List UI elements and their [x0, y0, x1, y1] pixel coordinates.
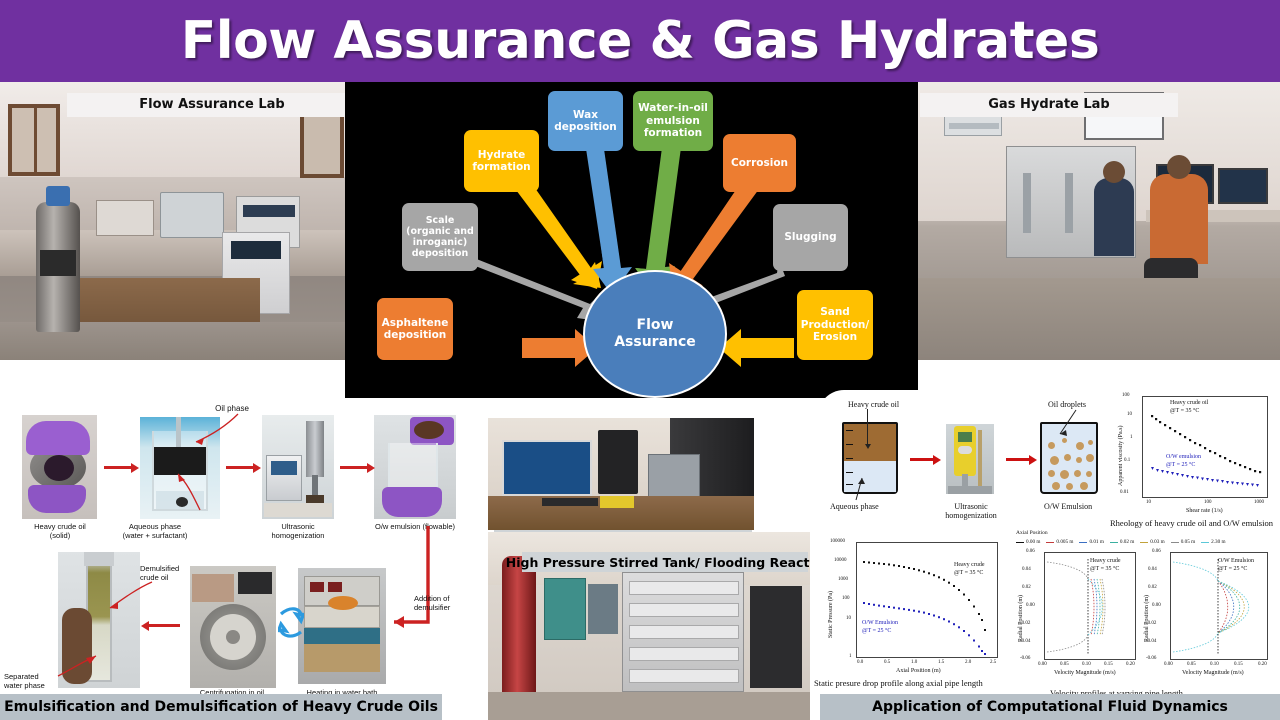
page-title: Flow Assurance & Gas Hydrates: [0, 4, 1280, 78]
legend-swatch-icon: [1201, 542, 1209, 543]
photo-ultrasonic-homogenizer: [946, 424, 994, 494]
diagram-box-slugging[interactable]: Slugging: [773, 204, 848, 271]
static-pressure-annotation-heavy-crude: Heavy crude @T = 35 °C: [954, 562, 984, 577]
velocity-ow-xtick: 0.00: [1164, 662, 1173, 667]
diagram-box-label: Corrosion: [731, 157, 788, 170]
rheology-panel: Heavy crude oil Aqueous phase Ultrasonic…: [818, 390, 1280, 536]
rheology-xtick: 10: [1146, 500, 1151, 505]
rheology-xlabel: Shear rate (1/s): [1186, 508, 1223, 514]
arrow-step2-to-step3: [226, 466, 254, 469]
lab-equipment: [96, 200, 154, 236]
chart-velocity-ow-emulsion: 0.06 0.04 0.02 0.00 -0.02 -0.04 -0.06 0.…: [1138, 546, 1276, 696]
arrow-to-homogenizer: [910, 458, 934, 461]
rheology-xtick: 1000: [1254, 500, 1264, 505]
diagram-center-flow-assurance[interactable]: Flow Assurance: [583, 270, 727, 398]
diagram-box-label: Scale (organic and inroganic) deposition: [406, 215, 474, 259]
velocity-ow-xtick: 0.15: [1234, 662, 1243, 667]
mouse-pad: [600, 496, 634, 508]
velocity-ow-ytick: -0.06: [1146, 656, 1156, 661]
rig-pipe: [1023, 173, 1031, 233]
diagram-center-label-line2: Assurance: [614, 334, 696, 351]
rack-module: [629, 669, 739, 683]
researcher-figure: [1094, 178, 1134, 256]
chart-velocity-heavy-crude: 0.06 0.04 0.02 0.00 -0.02 -0.04 -0.06 0.…: [1012, 546, 1144, 696]
rheology-ytick: 100: [1122, 393, 1130, 398]
legend-item: 0.00 m: [1016, 539, 1040, 545]
label-aqueous-phase: Aqueous phase: [830, 502, 879, 511]
window-frame: [8, 104, 60, 176]
demulsified-leader: [94, 576, 158, 616]
velocity-ow-ytick: 0.06: [1152, 549, 1161, 554]
aqueous-phase-leader: [152, 458, 214, 516]
velocity-heavy-annotation: Heavy crude @T = 35 °C: [1090, 558, 1120, 573]
gas-cylinder: [502, 556, 536, 706]
rheology-ylabel: Apparent viscosity (Pa.s): [1118, 426, 1124, 487]
computer-monitor: [1218, 168, 1268, 204]
control-cabinet: [750, 586, 802, 688]
legend-swatch-icon: [1079, 542, 1087, 543]
diagram-box-water-in-oil-emulsion-formation[interactable]: Water-in-oil emulsion formation: [633, 91, 713, 151]
cfd-panel: 100000 10000 1000 100 10 1 0.0 0.5 1.0 1…: [810, 528, 1280, 720]
label-heavy-crude-oil: Heavy crude oil: [848, 400, 899, 409]
arrow-step1-to-step2: [104, 466, 132, 469]
legend-item: 0.05 m: [1171, 539, 1195, 545]
beaker-heavy-crude-oil: [842, 422, 898, 494]
lab-floor: [918, 278, 1280, 360]
emulsification-panel: Oil phase Heavy crude oil (solid) Aqueou…: [0, 398, 482, 720]
legend-swatch-icon: [1110, 542, 1118, 543]
static-pressure-xlabel: Axial Position (m): [896, 668, 941, 674]
velocity-heavy-xtick: 0.00: [1038, 662, 1047, 667]
static-pressure-ytick: 1000: [838, 577, 848, 582]
lab-floor: [488, 692, 810, 720]
velocity-heavy-ytick: 0.02: [1022, 585, 1031, 590]
rheology-ytick: 0.01: [1120, 490, 1129, 495]
label-heavy-crude-oil: Heavy crude oil (solid): [16, 522, 104, 540]
label-aqueous-phase: Aqueous phase (water + surfactant): [94, 522, 216, 540]
velocity-ow-xtick: 0.05: [1187, 662, 1196, 667]
keyboard: [542, 498, 598, 506]
separated-water-leader: [56, 652, 108, 682]
legend-swatch-icon: [1016, 542, 1024, 543]
static-pressure-ytick: 10: [846, 616, 851, 621]
static-pressure-caption: Static presure drop profile along axial …: [814, 678, 983, 688]
velocity-ow-xtick: 0.20: [1258, 662, 1267, 667]
photo-water-bath: [298, 568, 386, 684]
label-ultrasonic-homogenization: Ultrasonic homogenization: [944, 502, 998, 520]
chart-rheology: 100 10 1 0.1 0.01 10 100 1000 Shear rate…: [1108, 390, 1280, 536]
static-pressure-xtick: 2.5: [990, 660, 996, 665]
legend-label: 0.01 m: [1089, 539, 1103, 545]
velocity-ow-xlabel: Velocity Magnitude (m/s): [1182, 670, 1244, 676]
static-pressure-ytick: 100: [842, 596, 850, 601]
tensiometer-photo: [488, 418, 754, 530]
velocity-heavy-xtick: 0.10: [1082, 662, 1091, 667]
velocity-heavy-ytick: 0.06: [1026, 549, 1035, 554]
lab-equipment: [160, 192, 224, 238]
flow-assurance-diagram: Hydrate formation Wax deposition Water-i…: [345, 82, 918, 398]
arrow-step3-to-step4: [340, 466, 368, 469]
legend-swatch-icon: [1046, 542, 1054, 543]
gas-hydrate-lab-photo: [918, 82, 1280, 360]
diagram-box-corrosion[interactable]: Corrosion: [723, 134, 796, 192]
velocity-heavy-ylabel: Radial Position (m): [1018, 595, 1024, 642]
static-pressure-xtick: 2.0: [965, 660, 971, 665]
static-pressure-ytick: 1: [849, 654, 852, 659]
velocity-heavy-xlabel: Velocity Magnitude (m/s): [1054, 670, 1116, 676]
reactor-unit: [544, 578, 586, 640]
static-pressure-series: [857, 543, 999, 659]
legend-item: 2.30 m: [1201, 539, 1225, 545]
chart-static-pressure: 100000 10000 1000 100 10 1 0.0 0.5 1.0 1…: [814, 536, 1014, 696]
velocity-ow-annotation: O/W Emulsion @T = 25 °C: [1218, 558, 1254, 573]
gas-cylinder: [36, 202, 80, 332]
researcher-figure: [1150, 174, 1208, 264]
legend-swatch-icon: [1140, 542, 1148, 543]
diagram-box-asphaltene-deposition[interactable]: Asphaltene deposition: [377, 298, 453, 360]
static-pressure-ytick: 100000: [830, 539, 845, 544]
static-pressure-xtick: 0.5: [884, 660, 890, 665]
velocity-ow-ytick: 0.04: [1148, 567, 1157, 572]
velocity-heavy-xtick: 0.05: [1060, 662, 1069, 667]
static-pressure-xtick: 0.0: [857, 660, 863, 665]
label-ultrasonic-homogenization: Ultrasonic homogenization: [258, 522, 338, 540]
diagram-box-scale-deposition[interactable]: Scale (organic and inroganic) deposition: [402, 203, 478, 271]
oil-phase-leader: [174, 412, 244, 448]
diagram-box-label: Wax deposition: [552, 109, 619, 134]
photo-ultrasonic-homogenizer: [262, 415, 334, 519]
rheology-ytick: 0.1: [1124, 458, 1130, 463]
rack-module: [629, 581, 739, 595]
rheology-annotation-ow-emulsion: O/W emulsion @T = 25 °C: [1166, 454, 1201, 469]
reactor-title-bar: High Pressure Stirred Tank/ Flooding Rea…: [522, 552, 808, 572]
flow-assurance-lab-caption: Flow Assurance Lab: [67, 93, 357, 117]
legend-item: 0.02 m: [1110, 539, 1134, 545]
label-ow-emulsion: O/W Emulsion: [1044, 502, 1092, 511]
rack-module: [629, 647, 739, 661]
static-pressure-plot-frame: [856, 542, 998, 658]
velocity-heavy-ytick: 0.04: [1022, 567, 1031, 572]
label-addition-of-demulsifier: Addition of demulsifier: [414, 594, 480, 612]
oil-droplets-leader: [1054, 408, 1080, 442]
cfd-title-bar: Application of Computational Fluid Dynam…: [820, 694, 1280, 720]
slide-canvas: Flow Assurance & Gas Hydrates Flow Assur…: [0, 0, 1280, 720]
velocity-heavy-xtick: 0.15: [1104, 662, 1113, 667]
computer-tower: [598, 430, 638, 494]
gas-hydrate-lab-caption: Gas Hydrate Lab: [920, 93, 1178, 117]
aqueous-leader: [852, 472, 870, 502]
heavy-crude-leader: [867, 409, 868, 445]
axial-position-legend: 0.00 m 0.005 m 0.01 m 0.02 m 0.03 m 0.05…: [1016, 539, 1226, 545]
velocity-ow-ytick: 0.02: [1148, 585, 1157, 590]
tensiometer-device: [648, 454, 700, 500]
arrow-addition-of-demulsifier: [382, 522, 472, 634]
photo-centrifuge: [190, 566, 276, 688]
cycle-arrow-icon: [278, 606, 304, 640]
rack-module: [629, 625, 739, 639]
arrow-to-emulsion: [1006, 458, 1030, 461]
photo-ow-emulsion-flowable: [374, 415, 456, 519]
diagram-center-label-line1: Flow: [614, 317, 696, 334]
legend-label: 0.03 m: [1150, 539, 1164, 545]
flow-assurance-lab-photo: [0, 82, 345, 360]
diagram-box-label: Hydrate formation: [468, 149, 535, 174]
computer-monitor: [502, 440, 592, 496]
velocity-ow-ylabel: Radial Position (m): [1144, 595, 1150, 642]
legend-label: 0.00 m: [1026, 539, 1040, 545]
legend-label: 2.30 m: [1211, 539, 1225, 545]
static-pressure-xtick: 1.5: [938, 660, 944, 665]
diagram-box-hydrate-formation[interactable]: Hydrate formation: [464, 130, 539, 192]
reactor-unit: [588, 584, 618, 634]
rheology-xtick: 100: [1204, 500, 1212, 505]
diagram-box-sand-production-erosion[interactable]: Sand Production/ Erosion: [797, 290, 873, 360]
velocity-heavy-xtick: 0.20: [1126, 662, 1135, 667]
velocity-ow-xtick: 0.10: [1210, 662, 1219, 667]
velocity-heavy-ytick: 0.00: [1026, 603, 1035, 608]
axial-position-legend-title: Axial Position: [1016, 530, 1048, 536]
diagram-box-label: Water-in-oil emulsion formation: [637, 102, 709, 140]
diagram-box-label: Asphaltene deposition: [381, 317, 449, 342]
static-pressure-ylabel: Static Pressure (Pa): [828, 591, 834, 638]
diagram-box-label: Sand Production/ Erosion: [801, 306, 869, 344]
velocity-ow-ytick: 0.00: [1152, 603, 1161, 608]
rheology-ytick: 1: [1130, 435, 1133, 440]
static-pressure-xtick: 1.0: [911, 660, 917, 665]
emulsification-title-bar: Emulsification and Demulsification of He…: [0, 694, 442, 720]
slide-header-bar: Flow Assurance & Gas Hydrates: [0, 0, 1280, 82]
diagram-box-wax-deposition[interactable]: Wax deposition: [548, 91, 623, 151]
rheology-chart-caption: Rheology of heavy crude oil and O/W emul…: [1110, 518, 1273, 528]
arrow-centrifuge-to-separated: [148, 624, 180, 627]
diagram-box-label: Slugging: [784, 231, 836, 244]
legend-swatch-icon: [1171, 542, 1179, 543]
legend-item: 0.01 m: [1079, 539, 1103, 545]
legend-item: 0.005 m: [1046, 539, 1073, 545]
rheology-annotation-heavy-crude: Heavy crude oil @T = 35 °C: [1170, 400, 1208, 415]
cylinder-label: [40, 250, 76, 276]
velocity-heavy-ytick: -0.06: [1020, 656, 1030, 661]
legend-label: 0.005 m: [1056, 539, 1073, 545]
rack-module: [629, 603, 739, 617]
static-pressure-annotation-ow-emulsion: O/W Emulsion @T = 25 °C: [862, 620, 898, 635]
instrument-rack: [622, 572, 744, 692]
rig-pipe: [1065, 173, 1073, 233]
legend-label: 0.02 m: [1120, 539, 1134, 545]
static-pressure-ytick: 10000: [834, 558, 847, 563]
legend-label: 0.05 m: [1181, 539, 1195, 545]
photo-heavy-crude-oil: [22, 415, 97, 519]
rheology-ytick: 10: [1127, 412, 1132, 417]
legend-item: 0.03 m: [1140, 539, 1164, 545]
